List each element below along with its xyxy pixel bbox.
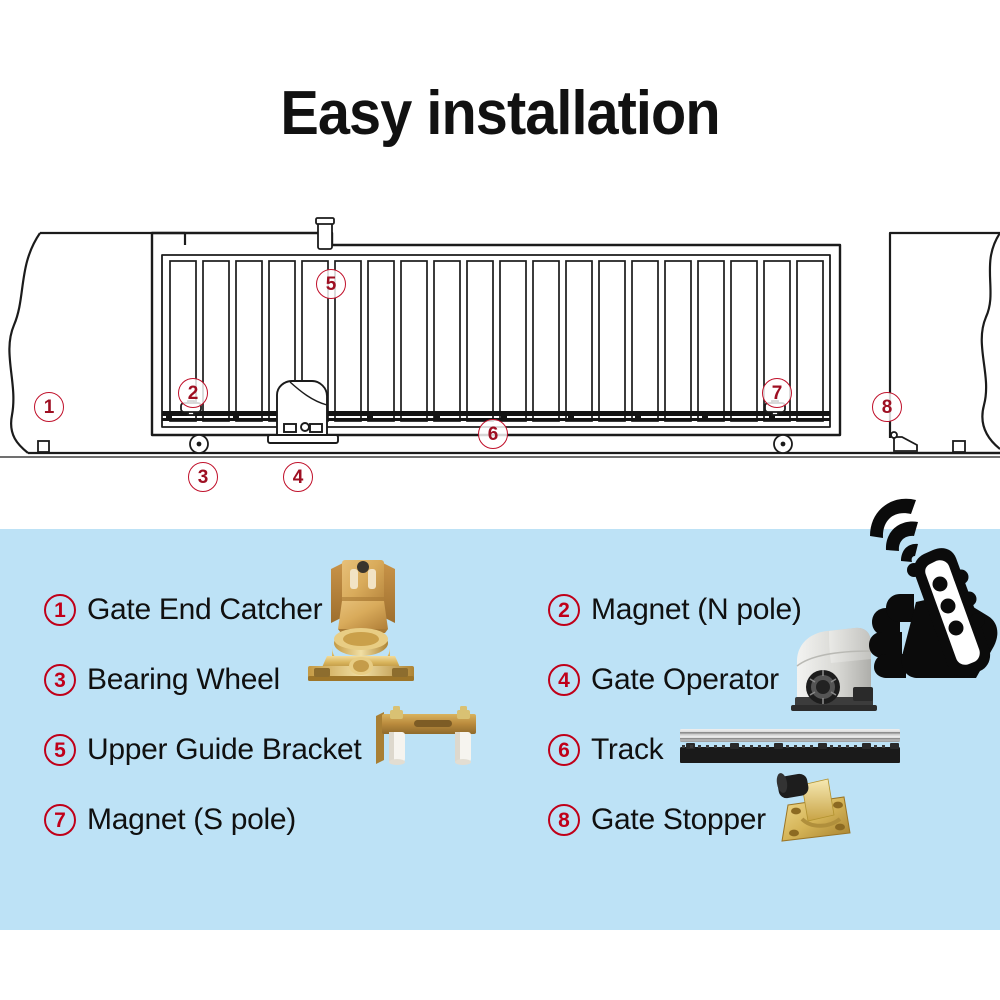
diagram-callout-1: 1 — [34, 392, 64, 422]
page-root: Easy installation — [0, 0, 1000, 1000]
legend-label-1: Gate End Catcher — [87, 593, 322, 627]
diagram-callout-2: 2 — [178, 378, 208, 408]
signal-arc-inner — [901, 544, 918, 562]
legend-number-2: 2 — [548, 594, 580, 626]
diagram-svg — [0, 205, 1000, 505]
upper-guide-bracket-marker — [316, 218, 334, 249]
legend-number-4: 4 — [548, 664, 580, 696]
diagram-callout-7: 7 — [762, 378, 792, 408]
legend-item-2[interactable]: 2 Magnet (N pole) — [548, 581, 802, 639]
legend-item-1[interactable]: 1 Gate End Catcher — [44, 581, 322, 639]
legend-number-3: 3 — [44, 664, 76, 696]
hand-holding-remote-icon — [856, 498, 1000, 678]
gate-outer-frame — [152, 233, 840, 435]
diagram-callout-6: 6 — [478, 419, 508, 449]
diagram-callout-5: 5 — [316, 269, 346, 299]
diagram-callout-8: 8 — [872, 392, 902, 422]
gate-stopper-marker — [891, 432, 965, 452]
legend-number-7: 7 — [44, 804, 76, 836]
page-title: Easy installation — [35, 78, 965, 149]
left-wall-torn-edge — [9, 233, 40, 453]
legend-item-8[interactable]: 8 Gate Stopper — [548, 791, 766, 849]
right-wall-torn-edge — [982, 233, 1000, 449]
legend-label-8: Gate Stopper — [591, 803, 766, 837]
legend-item-4[interactable]: 4 Gate Operator — [548, 651, 779, 709]
legend-item-5[interactable]: 5 Upper Guide Bracket — [44, 721, 361, 779]
legend-number-5: 5 — [44, 734, 76, 766]
legend-list: 1 Gate End Catcher 3 Bearing Wheel 5 Upp… — [0, 529, 1000, 930]
legend-panel: 1 Gate End Catcher 3 Bearing Wheel 5 Upp… — [0, 529, 1000, 930]
legend-label-5: Upper Guide Bracket — [87, 733, 361, 767]
legend-label-3: Bearing Wheel — [87, 663, 280, 697]
legend-label-2: Magnet (N pole) — [591, 593, 802, 627]
legend-item-7[interactable]: 7 Magnet (S pole) — [44, 791, 296, 849]
legend-number-8: 8 — [548, 804, 580, 836]
legend-label-7: Magnet (S pole) — [87, 803, 296, 837]
track-photo — [676, 725, 904, 769]
legend-item-3[interactable]: 3 Bearing Wheel — [44, 651, 280, 709]
legend-label-4: Gate Operator — [591, 663, 779, 697]
diagram-callout-4: 4 — [283, 462, 313, 492]
legend-label-6: Track — [591, 733, 663, 767]
gate-stopper-photo — [766, 771, 866, 845]
upper-guide-bracket-photo — [362, 704, 482, 770]
legend-number-1: 1 — [44, 594, 76, 626]
bearing-wheel-photo — [302, 626, 420, 688]
diagram-callout-3: 3 — [188, 462, 218, 492]
gate-bars — [170, 261, 823, 421]
legend-item-6[interactable]: 6 Track — [548, 721, 663, 779]
legend-number-6: 6 — [548, 734, 580, 766]
installation-diagram: 1 2 3 4 5 6 7 8 — [0, 205, 1000, 505]
gate-end-catcher-marker — [38, 441, 49, 452]
